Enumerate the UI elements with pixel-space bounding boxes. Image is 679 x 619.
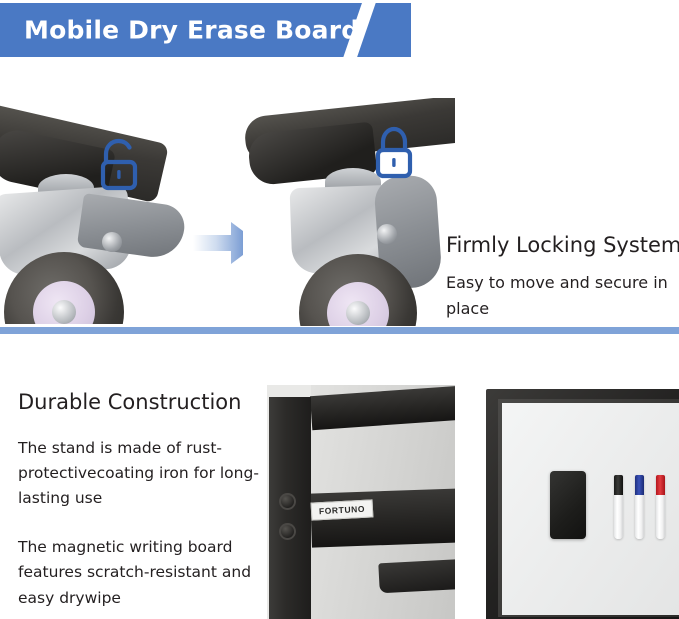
post-hole-lower	[279, 523, 296, 540]
locking-system-body: Easy to move and secure in place	[446, 270, 679, 322]
photo-caster-locked	[243, 98, 455, 326]
magnetic-eraser	[550, 471, 586, 539]
brake-bolt	[377, 224, 397, 244]
red-marker-cap	[656, 475, 665, 495]
durable-paragraph-1: The stand is made of rust-protectivecoat…	[18, 436, 260, 511]
brand-label: FORTUNO	[311, 499, 374, 520]
blue-marker-cap	[635, 475, 644, 495]
unlock-icon	[92, 138, 144, 194]
frame-tray	[378, 559, 455, 594]
photo-board-accessories	[478, 385, 679, 619]
photo-caster-unlocked	[0, 102, 206, 324]
durable-construction-text: Durable Construction The stand is made o…	[18, 390, 260, 611]
brand-label-text: FORTUNO	[319, 504, 366, 516]
section-locking-system: Firmly Locking System Easy to move and s…	[0, 80, 679, 330]
durable-construction-heading: Durable Construction	[18, 390, 260, 414]
section-durable-construction: Durable Construction The stand is made o…	[0, 360, 679, 619]
post-hole-upper	[279, 493, 296, 510]
wheel-axle	[52, 300, 76, 324]
locking-system-heading: Firmly Locking System	[446, 232, 679, 258]
black-marker	[614, 475, 623, 539]
board-writing-surface	[502, 403, 679, 615]
blue-marker	[635, 475, 644, 539]
durable-paragraph-2: The magnetic writing board features scra…	[18, 535, 260, 610]
red-marker	[656, 475, 665, 539]
section-divider	[0, 327, 679, 334]
locking-system-text: Firmly Locking System Easy to move and s…	[446, 232, 679, 322]
page-title: Mobile Dry Erase Board	[24, 16, 359, 45]
header-banner: Mobile Dry Erase Board	[0, 3, 411, 57]
brake-bolt	[102, 232, 122, 252]
wheel-axle	[346, 301, 370, 325]
photo-frame-detail: FORTUNO	[267, 385, 455, 619]
lock-icon	[367, 126, 419, 182]
black-marker-cap	[614, 475, 623, 495]
